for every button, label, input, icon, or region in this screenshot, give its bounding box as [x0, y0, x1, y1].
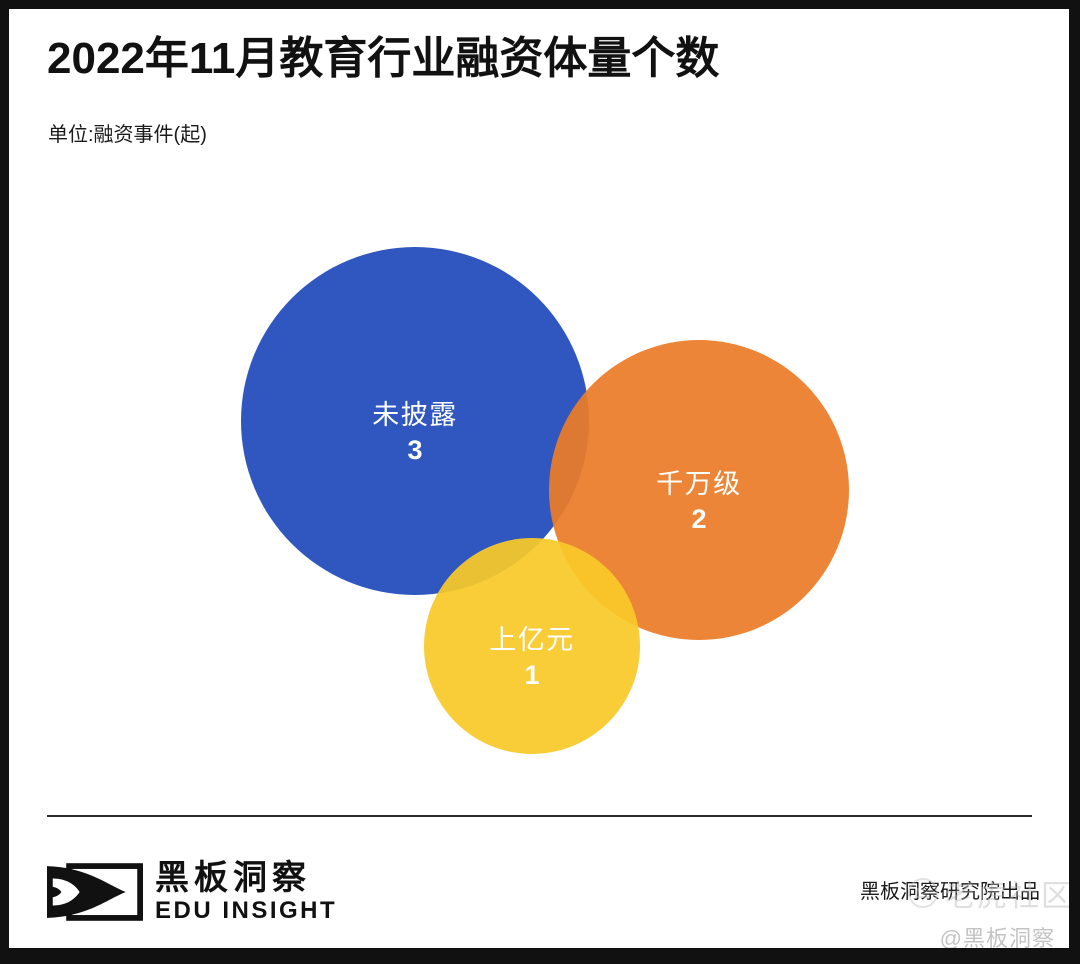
venn-svg	[9, 9, 1069, 948]
brand-logo-text: 黑板洞察 EDU INSIGHT	[155, 859, 337, 924]
image-frame: 2022年11月教育行业融资体量个数 单位:融资事件(起) 未披露 3 千	[0, 0, 1080, 964]
footer: 黑板洞察 EDU INSIGHT 黑板洞察研究院出品	[9, 849, 1069, 929]
footer-credit: 黑板洞察研究院出品	[860, 879, 1040, 905]
brand-name-cn: 黑板洞察	[155, 859, 337, 897]
infographic-canvas: 2022年11月教育行业融资体量个数 单位:融资事件(起) 未披露 3 千	[9, 9, 1069, 948]
venn-diagram: 未披露 3 千万级 2 上亿元 1	[9, 9, 1069, 948]
brand-name-en: EDU INSIGHT	[155, 897, 337, 924]
venn-circle-over-hundred-million	[424, 538, 640, 754]
eye-bracket-logo-icon	[47, 863, 143, 921]
brand-logo: 黑板洞察 EDU INSIGHT	[47, 859, 337, 924]
footer-divider	[47, 815, 1032, 817]
